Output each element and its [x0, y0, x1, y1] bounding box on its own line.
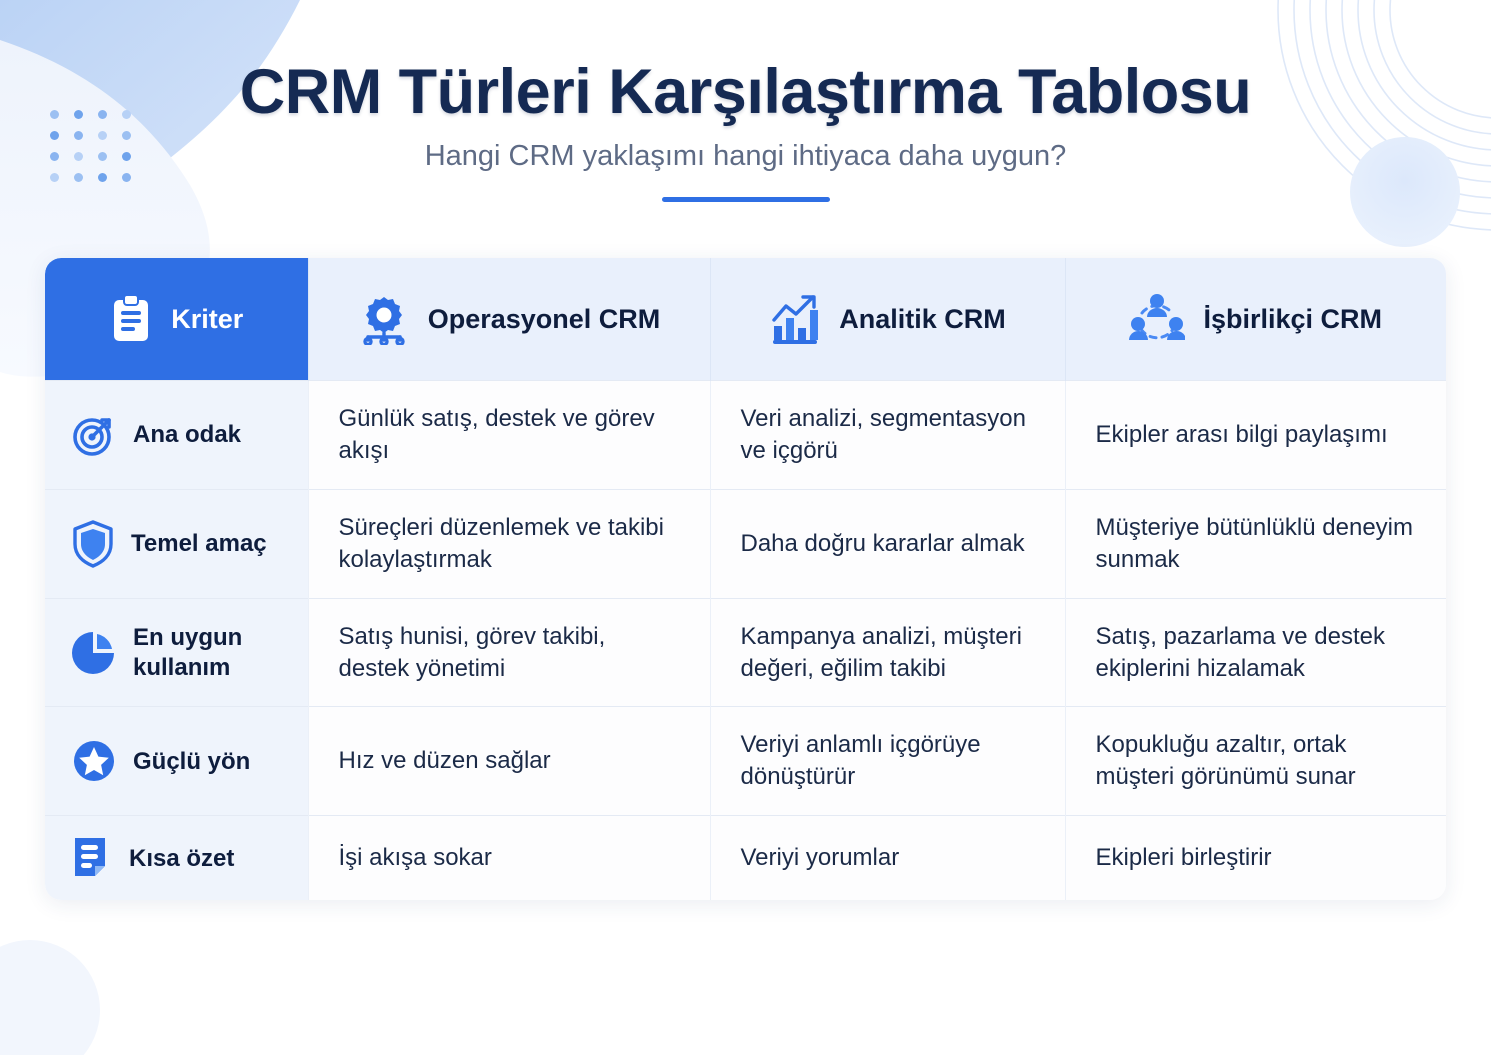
column-header-kriter: Kriter — [45, 258, 308, 381]
cell-text: İşi akışa sokar — [339, 842, 680, 874]
row-label-text: En uygun kullanım — [133, 623, 290, 682]
cell-isbirlikci: Ekipler arası bilgi paylaşımı — [1065, 381, 1446, 490]
row-label-en-uygun-kullanim: En uygun kullanım — [45, 598, 308, 707]
page-header: CRM Türleri Karşılaştırma Tablosu Hangi … — [0, 0, 1491, 202]
column-header-analitik-crm: Analitik CRM — [710, 258, 1065, 381]
cell-analitik: Kampanya analizi, müşteri değeri, eğilim… — [710, 598, 1065, 707]
cell-operasyonel: Günlük satış, destek ve görev akışı — [308, 381, 710, 490]
table-row: Güçlü yön Hız ve düzen sağlar Veriyi anl… — [45, 707, 1446, 816]
title-divider — [662, 197, 830, 202]
cell-text: Hız ve düzen sağlar — [339, 745, 680, 777]
crm-comparison-table: Kriter — [45, 258, 1446, 900]
cell-text: Satış hunisi, görev takibi, destek yönet… — [339, 621, 680, 685]
star-circle-icon — [71, 738, 117, 784]
shield-icon — [71, 520, 115, 568]
cell-text: Kampanya analizi, müşteri değeri, eğilim… — [741, 621, 1035, 685]
soft-circle-bottom-left-icon — [0, 940, 100, 1055]
cell-isbirlikci: Ekipleri birleştirir — [1065, 816, 1446, 901]
column-header-label: Operasyonel CRM — [428, 304, 661, 335]
cell-text: Ekipleri birleştirir — [1096, 842, 1417, 874]
pie-chart-icon — [71, 630, 117, 676]
table-body: Ana odak Günlük satış, destek ve görev a… — [45, 381, 1446, 901]
clipboard-icon — [109, 294, 153, 344]
row-label-text: Kısa özet — [129, 844, 234, 873]
row-label-ana-odak: Ana odak — [45, 381, 308, 490]
column-header-label: İşbirlikçi CRM — [1203, 304, 1382, 335]
infographic-page: CRM Türleri Karşılaştırma Tablosu Hangi … — [0, 0, 1491, 1055]
cell-text: Daha doğru kararlar almak — [741, 528, 1035, 560]
row-label-guclu-yon: Güçlü yön — [45, 707, 308, 816]
cell-operasyonel: Süreçleri düzenlemek ve takibi kolaylaşt… — [308, 489, 710, 598]
row-label-kisa-ozet: Kısa özet — [45, 816, 308, 901]
page-title: CRM Türleri Karşılaştırma Tablosu — [0, 58, 1491, 126]
column-header-isbirlikci-crm: İşbirlikçi CRM — [1065, 258, 1446, 381]
cell-isbirlikci: Satış, pazarlama ve destek ekiplerini hi… — [1065, 598, 1446, 707]
note-document-icon — [71, 834, 113, 882]
cell-operasyonel: Satış hunisi, görev takibi, destek yönet… — [308, 598, 710, 707]
column-header-label: Kriter — [171, 304, 243, 335]
cell-analitik: Daha doğru kararlar almak — [710, 489, 1065, 598]
cell-text: Veri analizi, segmentasyon ve içgörü — [741, 403, 1035, 467]
row-label-temel-amac: Temel amaç — [45, 489, 308, 598]
cell-text: Ekipler arası bilgi paylaşımı — [1096, 419, 1417, 451]
cell-text: Veriyi yorumlar — [741, 842, 1035, 874]
cell-text: Günlük satış, destek ve görev akışı — [339, 403, 680, 467]
cell-operasyonel: Hız ve düzen sağlar — [308, 707, 710, 816]
cell-analitik: Veri analizi, segmentasyon ve içgörü — [710, 381, 1065, 490]
cell-text: Veriyi anlamlı içgörüye dönüştürür — [741, 729, 1035, 793]
collaboration-people-icon — [1129, 293, 1185, 345]
cell-isbirlikci: Müşteriye bütünlüklü deneyim sunmak — [1065, 489, 1446, 598]
row-label-text: Güçlü yön — [133, 747, 250, 776]
table-header: Kriter — [45, 258, 1446, 381]
page-subtitle: Hangi CRM yaklaşımı hangi ihtiyaca daha … — [0, 140, 1491, 173]
table-row: Kısa özet İşi akışa sokar Veriyi yorumla… — [45, 816, 1446, 901]
column-header-label: Analitik CRM — [839, 304, 1006, 335]
gear-workflow-icon — [358, 293, 410, 345]
cell-text: Müşteriye bütünlüklü deneyim sunmak — [1096, 512, 1417, 576]
table-row: Temel amaç Süreçleri düzenlemek ve takib… — [45, 489, 1446, 598]
bar-chart-growth-icon — [769, 294, 821, 344]
column-header-operasyonel-crm: Operasyonel CRM — [308, 258, 710, 381]
cell-text: Satış, pazarlama ve destek ekiplerini hi… — [1096, 621, 1417, 685]
row-label-text: Temel amaç — [131, 529, 267, 558]
comparison-table-card: Kriter — [45, 258, 1446, 900]
row-label-text: Ana odak — [133, 420, 241, 449]
target-icon — [71, 412, 117, 458]
table-row: Ana odak Günlük satış, destek ve görev a… — [45, 381, 1446, 490]
cell-operasyonel: İşi akışa sokar — [308, 816, 710, 901]
cell-text: Süreçleri düzenlemek ve takibi kolaylaşt… — [339, 512, 680, 576]
cell-isbirlikci: Kopukluğu azaltır, ortak müşteri görünüm… — [1065, 707, 1446, 816]
cell-analitik: Veriyi yorumlar — [710, 816, 1065, 901]
table-header-row: Kriter — [45, 258, 1446, 381]
table-row: En uygun kullanım Satış hunisi, görev ta… — [45, 598, 1446, 707]
cell-analitik: Veriyi anlamlı içgörüye dönüştürür — [710, 707, 1065, 816]
cell-text: Kopukluğu azaltır, ortak müşteri görünüm… — [1096, 729, 1417, 793]
